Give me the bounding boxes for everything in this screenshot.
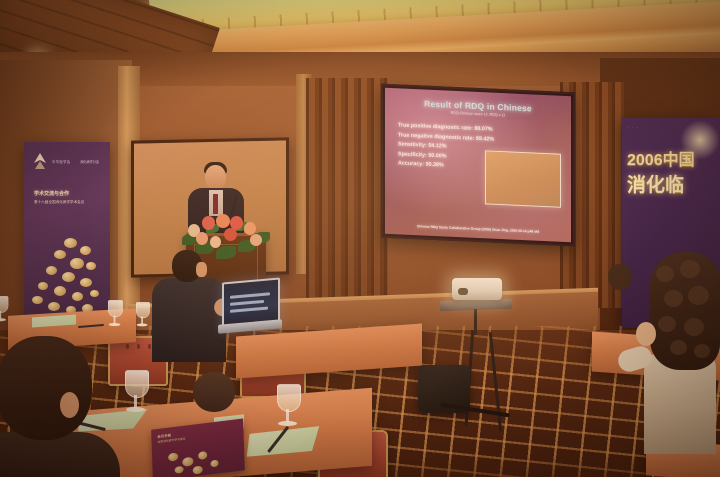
banner-brand-text: 中华医学会 <box>52 159 70 164</box>
projection-screen: Result of RDQ in Chinese RDQ Chinese sco… <box>381 84 575 247</box>
stage-curtain-left <box>306 78 388 308</box>
projector-stand-leg <box>474 309 477 335</box>
chair-slot <box>126 344 129 349</box>
brochure-dot <box>182 457 193 467</box>
right-attendee-hand <box>636 322 656 346</box>
brochure-dot <box>210 460 218 468</box>
glass-foot <box>278 421 297 426</box>
laptop-screen-line <box>230 300 264 306</box>
glass-foot <box>126 407 145 412</box>
banner-brand-text-2: 消化病学分会 <box>80 159 99 164</box>
brochure-dot <box>175 466 184 474</box>
laptop-operator-face <box>196 262 207 277</box>
speaker-tie <box>213 194 218 214</box>
slide-surface: Result of RDQ in Chinese RDQ Chinese sco… <box>385 88 571 242</box>
brochure-dot <box>193 465 203 474</box>
conference-banner-left: 中华医学会 消化病学分会 学术交流与合作 第十六届全国消化病学学术会议 <box>24 142 110 328</box>
banner-subline: 第十六届全国消化病学学术会议 <box>34 200 84 205</box>
glass-bowl <box>125 370 149 398</box>
conference-photo: Result of RDQ in Chinese RDQ Chinese sco… <box>0 0 720 477</box>
slide-footer: Chinese RDQ Study Collaborative Group (2… <box>385 223 571 235</box>
seated-attendee-head <box>193 372 235 412</box>
glass-bowl <box>277 384 301 412</box>
banner-headline: 学术交流与合作 <box>34 190 69 197</box>
background-attendee-head <box>608 264 632 290</box>
foreground-attendee-ear <box>60 392 79 418</box>
laptop-screen-line <box>230 307 268 313</box>
foreground-attendee-head <box>0 336 92 440</box>
brochure-dot <box>198 451 207 460</box>
projector-lens-icon <box>458 288 468 295</box>
brochure-dot <box>168 452 178 461</box>
slide-endoscopy-image <box>485 150 561 207</box>
glass-foot <box>137 323 148 326</box>
conference-logo <box>32 152 48 170</box>
chair-slot <box>137 344 140 349</box>
banner-line-2: 消化临 <box>627 170 684 197</box>
banner-line-1: 2006中国 <box>627 146 695 170</box>
foreground-attendee-shoulders <box>0 432 120 477</box>
laptop-screen-line <box>230 292 270 298</box>
glass-foot <box>109 323 121 326</box>
conference-brochure[interactable]: 会议手册 全国消化病学学术会议 <box>151 418 245 477</box>
banner-top-text: · · · <box>628 126 639 130</box>
chair-slot <box>148 344 151 349</box>
laptop-operator-body <box>152 278 226 362</box>
right-attendee-hair <box>650 252 720 370</box>
speaker-head <box>205 165 226 190</box>
